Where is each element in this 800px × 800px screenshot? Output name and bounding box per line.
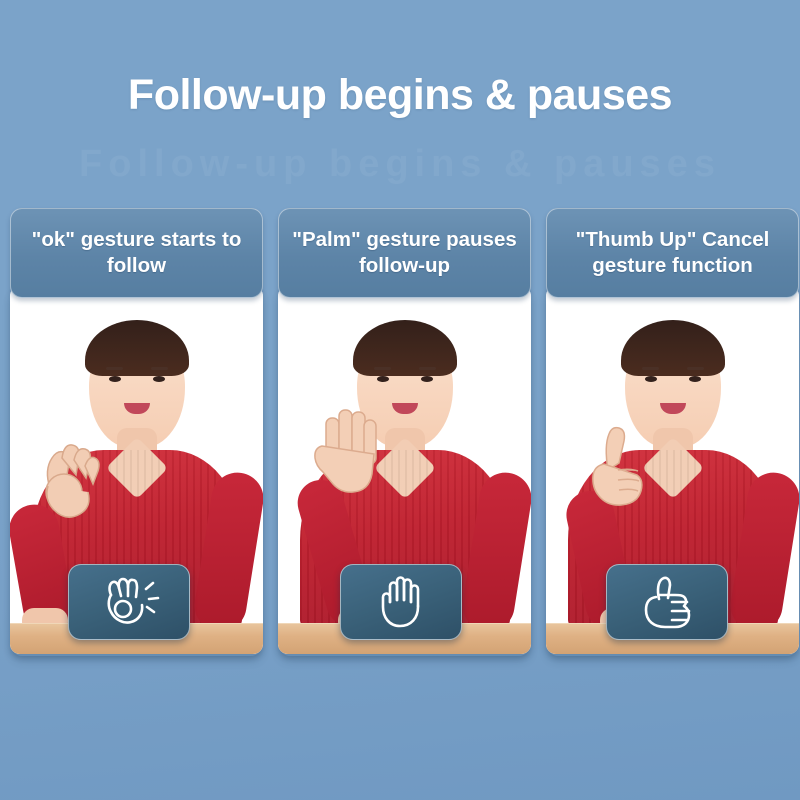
- thumbs-up-photo-icon: [574, 414, 658, 514]
- card-photo-ok: [10, 286, 263, 654]
- watermark-text: Follow-up begins & pauses: [0, 135, 800, 193]
- card-label-thumb-up: "Thumb Up" Cancel gesture function: [546, 208, 799, 298]
- hair-top: [353, 320, 457, 376]
- badge-palm-gesture[interactable]: [340, 564, 462, 640]
- eye-left: [645, 376, 657, 382]
- thumbs-up-icon: [639, 575, 695, 629]
- card-label-ok: "ok" gesture starts to follow: [10, 208, 263, 298]
- hair-top: [621, 320, 725, 376]
- eye-right: [153, 376, 165, 382]
- eyebrow-left: [106, 367, 123, 370]
- gesture-card-row: "ok" gesture starts to follow: [10, 208, 798, 658]
- card-photo-thumb-up: [546, 286, 799, 654]
- eye-right: [421, 376, 433, 382]
- eyebrow-right: [419, 367, 436, 370]
- gesture-card-palm[interactable]: "Palm" gesture pauses follow-up: [278, 208, 531, 654]
- eye-left: [109, 376, 121, 382]
- badge-ok-gesture[interactable]: [68, 564, 190, 640]
- ok-hand-icon: [98, 575, 160, 629]
- card-label-palm: "Palm" gesture pauses follow-up: [278, 208, 531, 298]
- page-title: Follow-up begins & pauses: [0, 70, 800, 120]
- eye-right: [689, 376, 701, 382]
- card-photo-palm: [278, 286, 531, 654]
- open-palm-photo-icon: [308, 400, 388, 504]
- gesture-card-ok[interactable]: "ok" gesture starts to follow: [10, 208, 263, 654]
- poster-root: Follow-up begins & pauses Follow-up begi…: [0, 0, 800, 800]
- eyebrow-left: [642, 367, 659, 370]
- eyebrow-left: [374, 367, 391, 370]
- badge-thumb-up-gesture[interactable]: [606, 564, 728, 640]
- eyebrow-right: [687, 367, 704, 370]
- eyebrow-right: [151, 367, 168, 370]
- eye-left: [377, 376, 389, 382]
- gesture-card-thumb-up[interactable]: "Thumb Up" Cancel gesture function: [546, 208, 799, 654]
- hair-top: [85, 320, 189, 376]
- ok-hand-photo-icon: [32, 430, 106, 526]
- open-palm-icon: [378, 574, 424, 630]
